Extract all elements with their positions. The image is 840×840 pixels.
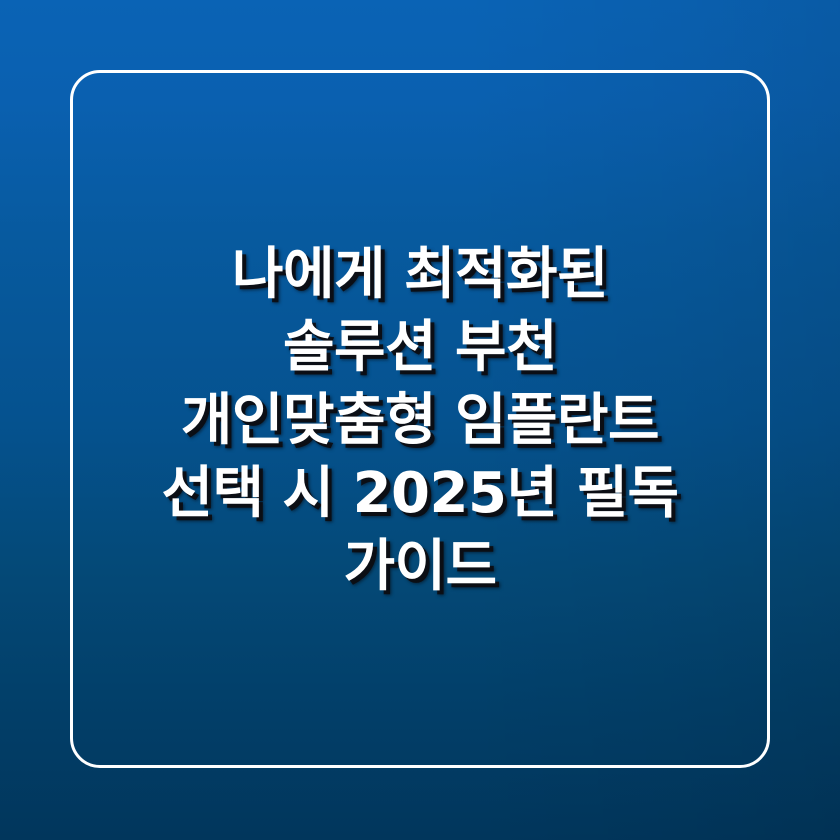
headline-line-3: 개인맞춤형 임플란트 (181, 384, 659, 457)
headline-line-2: 솔루션 부천 (283, 311, 557, 384)
headline-line-4: 선택 시 2025년 필독 (162, 457, 679, 530)
headline-line-1: 나에게 최적화된 (232, 238, 608, 311)
headline-line-5: 가이드 (343, 530, 496, 603)
poster-canvas: 나에게 최적화된 솔루션 부천 개인맞춤형 임플란트 선택 시 2025년 필독… (0, 0, 840, 840)
headline-block: 나에게 최적화된 솔루션 부천 개인맞춤형 임플란트 선택 시 2025년 필독… (0, 0, 840, 840)
